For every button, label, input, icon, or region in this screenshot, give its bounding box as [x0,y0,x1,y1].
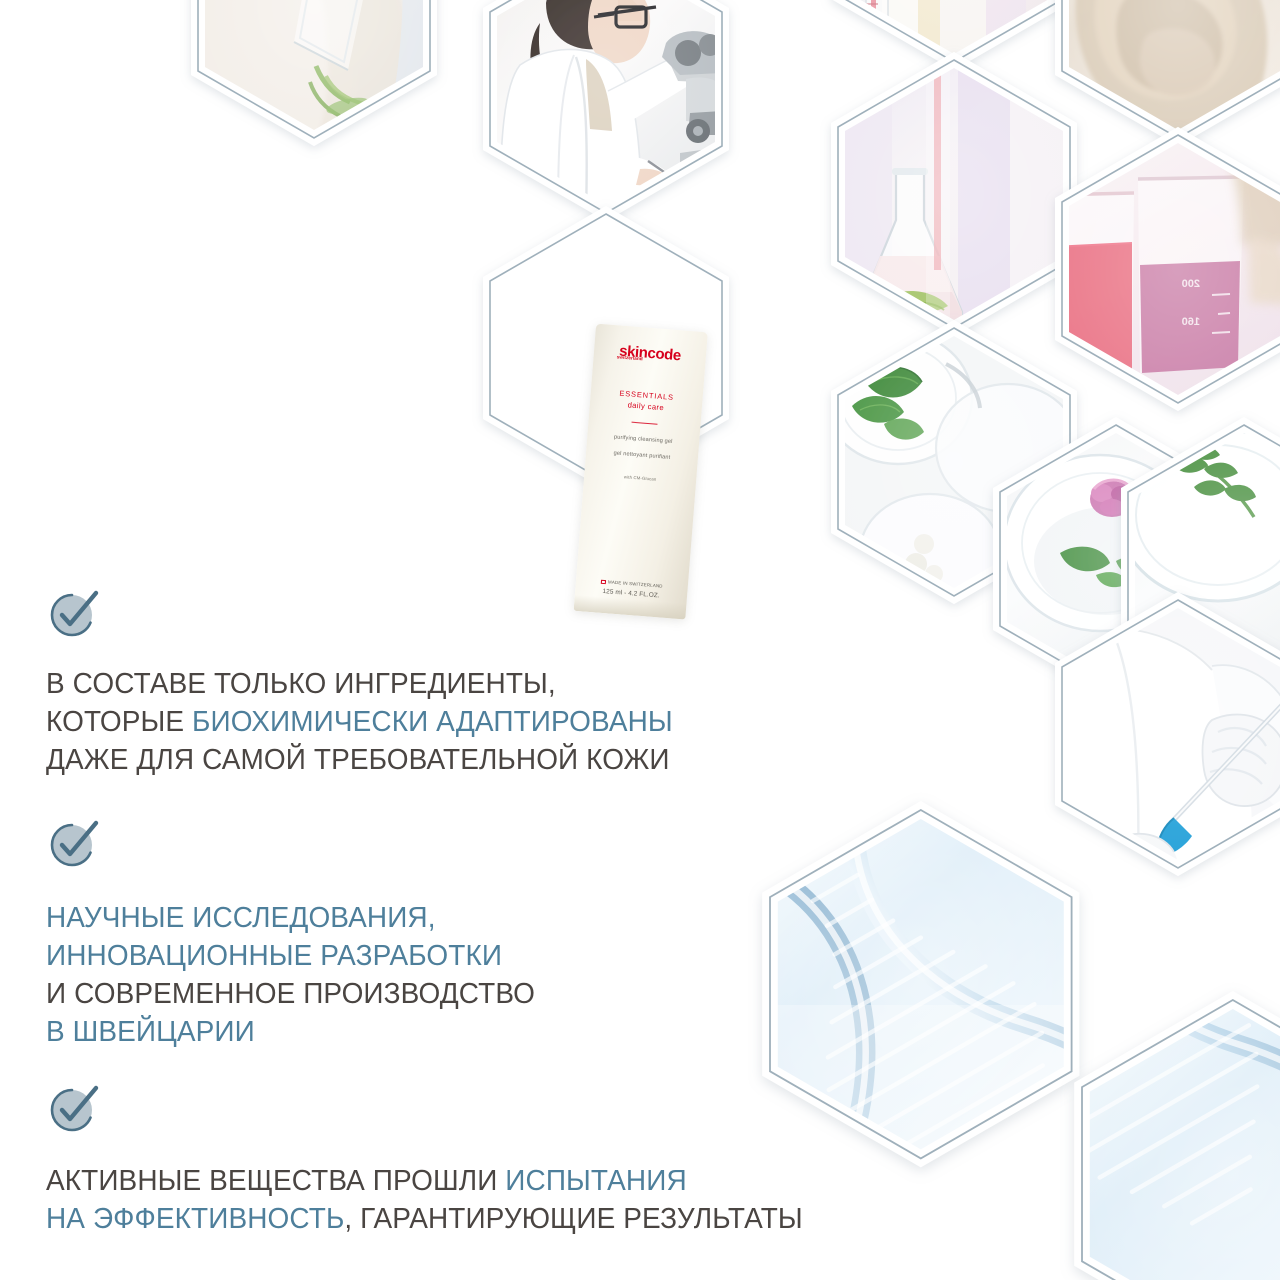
hex-scientist-flask [198,0,430,138]
feature-2-line-1: НАУЧНЫЕ ИССЛЕДОВАНИЯ, [46,899,535,937]
hex-flask-green [838,60,1070,328]
feature-3-text: АКТИВНЫЕ ВЕЩЕСТВА ПРОШЛИ ИСПЫТАНИЯ НА ЭФ… [46,1162,830,1238]
product-brand: skincode switzerland [619,344,682,364]
product-range-sub: daily care [597,398,696,416]
feature-1-text: В СОСТАВЕ ТОЛЬКО ИНГРЕДИЕНТЫ, КОТОРЫЕ БИ… [46,665,696,779]
feature-2-line-4: В ШВЕЙЦАРИИ [46,1013,535,1051]
check-circle-icon [46,1080,104,1138]
poster-canvas: 200 160 [0,0,1280,1280]
product-active-ingredient: with CM-Glucan [591,472,689,485]
feature-1-line-3: ДАЖЕ ДЛЯ САМОЙ ТРЕБОВАТЕЛЬНОЙ КОЖИ [46,741,673,779]
segment-plain: АКТИВНЫЕ ВЕЩЕСТВА ПРОШЛИ [46,1165,505,1197]
segment-highlight: НАУЧНЫЕ ИССЛЕДОВАНИЯ, [46,902,436,934]
feature-block-1: В СОСТАВЕ ТОЛЬКО ИНГРЕДИЕНТЫ, КОТОРЫЕ БИ… [46,585,696,779]
hex-gloved-hands [1062,0,1280,138]
hex-microscope [490,0,722,213]
product-brand-name: skincode [619,343,682,365]
feature-2-line-2: ИННОВАЦИОННЫЕ РАЗРАБОТКИ [46,937,535,975]
check-circle-icon [46,815,104,873]
product-range: ESSENTIALS daily care [597,387,696,416]
feature-3-line-1: АКТИВНЫЕ ВЕЩЕСТВА ПРОШЛИ ИСПЫТАНИЯ [46,1162,803,1200]
product-tube: skincode switzerland ESSENTIALS daily ca… [574,324,708,620]
segment-plain: ДАЖЕ ДЛЯ САМОЙ ТРЕБОВАТЕЛЬНОЙ КОЖИ [46,744,670,776]
product-desc-fr: gel nettoyant purifiant [593,447,691,463]
product-desc-en: purifying cleansing gel [614,435,673,446]
product-divider [631,422,657,425]
segment-plain: КОТОРЫЕ [46,706,192,738]
check-circle-icon [46,585,104,643]
segment-plain: В СОСТАВЕ ТОЛЬКО ИНГРЕДИЕНТЫ, [46,668,556,700]
segment-highlight: БИОХИМИЧЕСКИ АДАПТИРОВАНЫ [192,706,673,738]
swiss-flag-icon [601,580,606,584]
segment-highlight: В ШВЕЙЦАРИИ [46,1016,255,1048]
feature-3-line-2: НА ЭФФЕКТИВНОСТЬ, ГАРАНТИРУЮЩИЕ РЕЗУЛЬТА… [46,1200,803,1238]
segment-highlight: ИННОВАЦИОННЫЕ РАЗРАБОТКИ [46,940,502,972]
segment-plain: , ГАРАНТИРУЮЩИЕ РЕЗУЛЬТАТЫ [344,1203,802,1235]
feature-block-3: АКТИВНЫЕ ВЕЩЕСТВА ПРОШЛИ ИСПЫТАНИЯ НА ЭФ… [46,1080,830,1238]
feature-1-line-1: В СОСТАВЕ ТОЛЬКО ИНГРЕДИЕНТЫ, [46,665,673,703]
product-brand-sub: switzerland [616,355,642,362]
segment-plain: И СОВРЕМЕННОЕ ПРОИЗВОДСТВО [46,978,535,1010]
feature-2-line-3: И СОВРЕМЕННОЕ ПРОИЗВОДСТВО [46,975,535,1013]
feature-1-line-2: КОТОРЫЕ БИОХИМИЧЕСКИ АДАПТИРОВАНЫ [46,703,673,741]
feature-block-2: НАУЧНЫЕ ИССЛЕДОВАНИЯ, ИННОВАЦИОННЫЕ РАЗР… [46,815,553,1051]
segment-highlight: НА ЭФФЕКТИВНОСТЬ [46,1203,344,1235]
product-description: purifying cleansing gel gel nettoyant pu… [593,432,693,463]
feature-2-text: НАУЧНЫЕ ИССЛЕДОВАНИЯ, ИННОВАЦИОННЫЕ РАЗР… [46,899,553,1051]
hex-pink-beaker: 200 160 [1052,115,1280,403]
segment-highlight: ИСПЫТАНИЯ [505,1165,686,1197]
